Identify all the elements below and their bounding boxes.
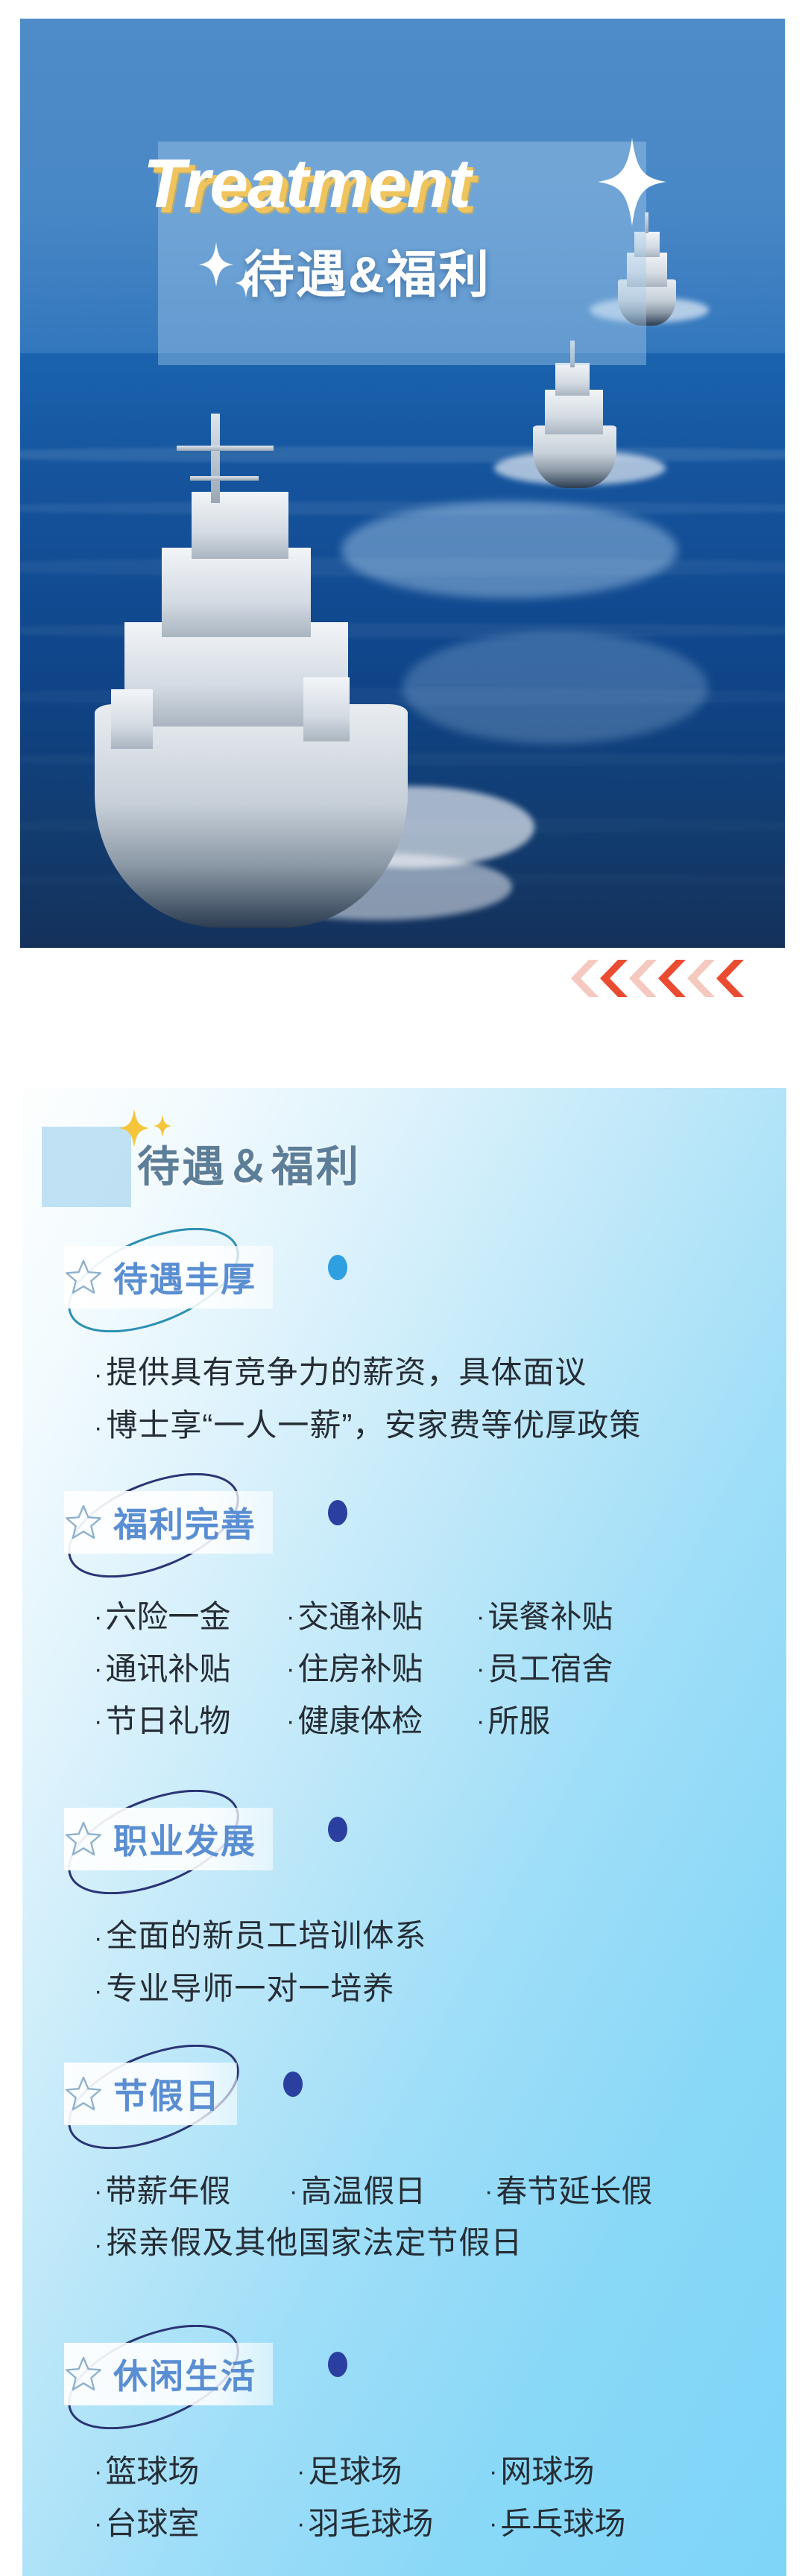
benefit-item: ·交通补贴 [286, 1591, 476, 1643]
hero-banner: Treatment 待遇&福利 [20, 19, 785, 948]
bullet-dot: · [94, 1924, 103, 1952]
leisure-item: ·羽毛球场 [297, 2498, 489, 2550]
section-accent-dot [328, 2352, 347, 2377]
section-holidays: 节假日 ·带薪年假 ·高温假日 ·春节延长假 ·探亲假及其他国家法定节假日 [22, 2043, 786, 2270]
sparkle-icon-small [235, 269, 257, 297]
section-leisure: 休闲生活 ·篮球场 ·足球场 ·网球场 ·台球室 [22, 2323, 786, 2550]
holiday-item: ·带薪年假 [94, 2165, 289, 2218]
holiday-item: ·高温假日 [289, 2165, 484, 2218]
holiday-text: 带薪年假 [105, 2165, 230, 2218]
benefit-item: ·所服 [476, 1695, 550, 1747]
chevron-left-icon [654, 960, 686, 997]
section-title-chip: 福利完善 [64, 1491, 273, 1554]
leisure-item: ·篮球场 [94, 2446, 297, 2498]
star-outline-icon [64, 1258, 103, 1297]
leisure-text: 羽毛球场 [308, 2498, 433, 2550]
bullet-dot: · [489, 2498, 497, 2550]
sparkle-icon-medium [199, 242, 233, 287]
bullet-text: 探亲假及其他国家法定节假日 [106, 2225, 523, 2260]
star-outline-icon [64, 1503, 103, 1542]
bullet-dot: · [476, 1695, 484, 1747]
section-title-text: 待遇丰厚 [113, 1253, 256, 1302]
section-body: ·提供具有竞争力的薪资，具体面议 ·博士享“一人一薪”，安家费等优厚政策 [22, 1338, 786, 1453]
section-accent-dot [283, 2072, 303, 2097]
star-outline-icon [64, 2075, 103, 2113]
bullet-dot: · [286, 1695, 294, 1747]
section-header: 待遇丰厚 [22, 1227, 786, 1338]
bullet-dot: · [286, 1643, 294, 1695]
section-header: 节假日 [22, 2043, 786, 2155]
benefit-item: ·误餐补贴 [476, 1591, 613, 1643]
section-title-text: 节假日 [113, 2069, 221, 2118]
sparkle-icon-large [598, 138, 666, 226]
benefit-text: 交通补贴 [297, 1591, 423, 1643]
benefit-item: ·员工宿舍 [476, 1643, 613, 1695]
section-title-chip: 节假日 [64, 2063, 237, 2125]
heading-accent-square [42, 1127, 131, 1207]
benefit-text: 通讯补贴 [105, 1643, 230, 1695]
chevron-left-icon [566, 960, 599, 997]
section-header: 职业发展 [22, 1788, 786, 1900]
bullet-dot: · [476, 1591, 484, 1643]
bullet-dot: · [484, 2165, 493, 2218]
leisure-item: ·足球场 [297, 2446, 489, 2498]
bullet-dot: · [94, 1977, 103, 2005]
bullet-dot: · [94, 2231, 103, 2259]
section-title-chip: 休闲生活 [64, 2343, 273, 2405]
benefits-card: 待遇＆福利 待遇丰厚 ·提供具有竞争力的薪资，具体面议 ·博士享“一人一薪”，安… [22, 1088, 786, 2576]
bullet-line: ·全面的新员工培训体系 [94, 1911, 786, 1963]
section-title-text: 福利完善 [113, 1498, 256, 1547]
section-title-chip: 待遇丰厚 [64, 1246, 273, 1308]
leisure-text: 台球室 [105, 2498, 199, 2550]
benefit-text: 住房补贴 [297, 1643, 423, 1695]
ship-near [65, 436, 467, 928]
leisure-row: ·台球室 ·羽毛球场 ·乒乓球场 [94, 2498, 786, 2550]
benefit-text: 误餐补贴 [487, 1591, 613, 1643]
leisure-text: 乒乓球场 [500, 2498, 625, 2550]
section-title-text: 休闲生活 [113, 2349, 256, 2399]
holiday-row: ·带薪年假 ·高温假日 ·春节延长假 [94, 2165, 786, 2218]
section-body: ·全面的新员工培训体系 ·专业导师一对一培养 [22, 1900, 786, 2016]
bullet-dot: · [289, 2165, 297, 2218]
bullet-dot: · [94, 2446, 102, 2498]
bullet-line: ·提供具有竞争力的薪资，具体面议 [94, 1347, 786, 1400]
leisure-row: ·篮球场 ·足球场 ·网球场 [94, 2446, 786, 2498]
bullet-text: 提供具有竞争力的薪资，具体面议 [106, 1355, 587, 1390]
section-body: ·六险一金 ·交通补贴 ·误餐补贴 ·通讯补贴 ·住房补贴 ·员工宿舍 [22, 1583, 786, 1747]
benefit-item: ·通讯补贴 [94, 1643, 286, 1695]
bullet-text: 博士享“一人一薪”，安家费等优厚政策 [106, 1408, 641, 1443]
section-accent-dot [328, 1500, 347, 1525]
section-title-text: 职业发展 [113, 1814, 256, 1864]
card-heading-block: 待遇＆福利 [42, 1110, 563, 1207]
chevron-divider [566, 960, 783, 997]
leisure-item: ·乒乓球场 [489, 2498, 625, 2550]
bullet-dot: · [94, 1591, 102, 1643]
bullet-dot: · [489, 2446, 497, 2498]
section-body: ·篮球场 ·足球场 ·网球场 ·台球室 ·羽毛球场 ·乒乓球场 [22, 2435, 786, 2550]
bullet-dot: · [297, 2498, 305, 2550]
bullet-dot: · [94, 2165, 102, 2218]
chevron-left-icon [625, 960, 657, 997]
bullet-text: 全面的新员工培训体系 [106, 1918, 426, 1953]
chevron-left-icon [596, 960, 628, 997]
bullet-dot: · [94, 1695, 102, 1747]
benefit-text: 六险一金 [105, 1591, 230, 1643]
bullet-dot: · [94, 1414, 103, 1442]
holiday-text: 春节延长假 [496, 2165, 652, 2218]
section-title-chip: 职业发展 [64, 1808, 273, 1870]
leisure-text: 足球场 [308, 2446, 402, 2498]
benefit-text: 员工宿舍 [487, 1643, 613, 1695]
benefit-item: ·住房补贴 [286, 1643, 476, 1695]
bullet-dot: · [94, 2498, 102, 2550]
section-header: 休闲生活 [22, 2323, 786, 2435]
bullet-line: ·专业导师一对一培养 [94, 1963, 786, 2016]
section-accent-dot [328, 1255, 347, 1280]
chevron-left-icon [683, 960, 715, 997]
card-heading-text: 待遇＆福利 [137, 1133, 361, 1194]
section-accent-dot [328, 1817, 347, 1842]
hero-title-cn: 待遇&福利 [244, 233, 490, 307]
hero-title-en: Treatment [143, 144, 470, 224]
leisure-text: 篮球场 [105, 2446, 199, 2498]
leisure-item: ·网球场 [489, 2446, 594, 2498]
benefit-text: 节日礼物 [105, 1695, 230, 1747]
benefit-item: ·节日礼物 [94, 1695, 286, 1747]
chevron-left-icon [712, 960, 744, 997]
section-career: 职业发展 ·全面的新员工培训体系 ·专业导师一对一培养 [22, 1788, 786, 2016]
bullet-dot: · [297, 2446, 305, 2498]
bullet-dot: · [94, 1361, 103, 1389]
bullet-dot: · [476, 1643, 484, 1695]
holiday-text: 高温假日 [300, 2165, 426, 2218]
benefit-text: 健康体检 [297, 1695, 423, 1747]
bullet-line: ·探亲假及其他国家法定节假日 [94, 2218, 786, 2270]
benefit-item: ·六险一金 [94, 1591, 286, 1643]
holiday-item: ·春节延长假 [484, 2165, 652, 2218]
benefit-row: ·节日礼物 ·健康体检 ·所服 [94, 1695, 786, 1747]
section-body: ·带薪年假 ·高温假日 ·春节延长假 ·探亲假及其他国家法定节假日 [22, 2155, 786, 2270]
section-header: 福利完善 [22, 1472, 786, 1583]
benefit-text: 所服 [487, 1695, 550, 1747]
bullet-dot: · [94, 1643, 102, 1695]
bullet-line: ·博士享“一人一薪”，安家费等优厚政策 [94, 1400, 786, 1453]
star-outline-icon [64, 2355, 103, 2393]
section-salary: 待遇丰厚 ·提供具有竞争力的薪资，具体面议 ·博士享“一人一薪”，安家费等优厚政… [22, 1227, 786, 1453]
bullet-dot: · [286, 1591, 294, 1643]
leisure-item: ·台球室 [94, 2498, 297, 2550]
bullet-text: 专业导师一对一培养 [106, 1971, 394, 2006]
benefit-item: ·健康体检 [286, 1695, 476, 1747]
leisure-text: 网球场 [500, 2446, 594, 2498]
benefit-row: ·通讯补贴 ·住房补贴 ·员工宿舍 [94, 1643, 786, 1695]
section-benefits: 福利完善 ·六险一金 ·交通补贴 ·误餐补贴 ·通讯补贴 [22, 1472, 786, 1747]
benefit-row: ·六险一金 ·交通补贴 ·误餐补贴 [94, 1591, 786, 1643]
star-outline-icon [64, 1820, 103, 1858]
